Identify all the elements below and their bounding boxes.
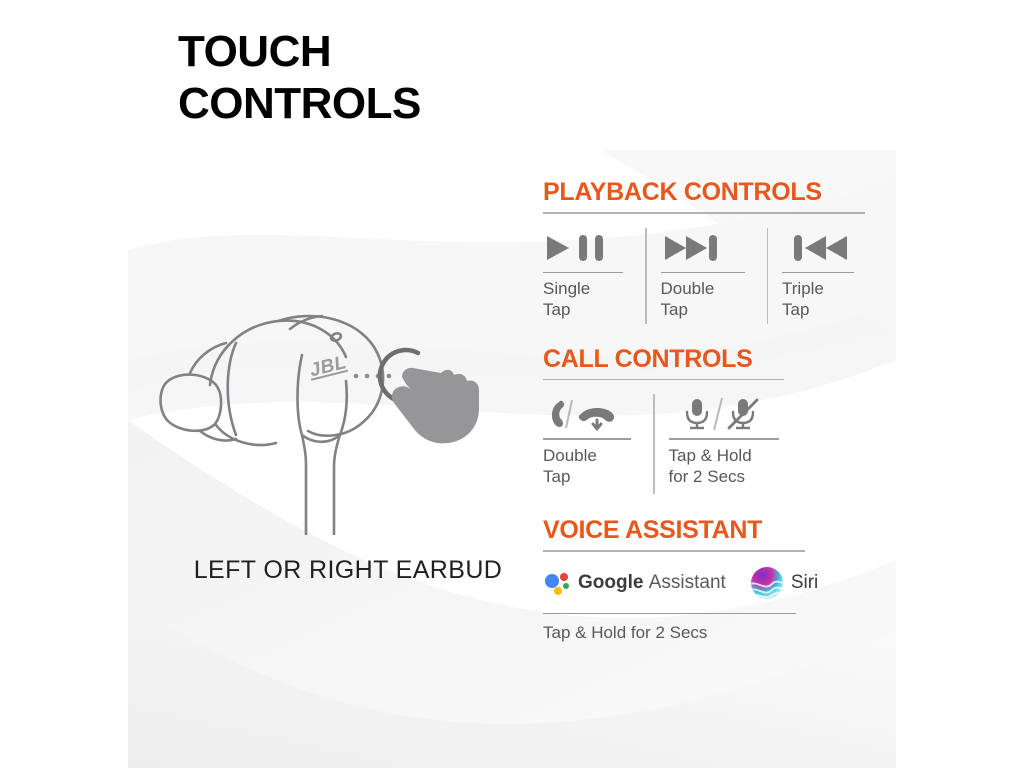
jbl-logo-icon: JBL bbox=[307, 352, 349, 382]
playback-item-triple-tap[interactable]: Triple Tap bbox=[782, 228, 862, 321]
voice-heading: VOICE ASSISTANT bbox=[543, 516, 873, 545]
playback-heading: PLAYBACK CONTROLS bbox=[543, 178, 873, 207]
google-assistant-icon bbox=[543, 569, 571, 597]
svg-text:JBL: JBL bbox=[308, 352, 349, 381]
call-label-double: Double Tap bbox=[543, 445, 639, 487]
earbud-caption: LEFT OR RIGHT EARBUD bbox=[178, 556, 518, 585]
playback-heading-rule bbox=[543, 212, 865, 214]
play-pause-icon bbox=[543, 228, 631, 268]
answer-end-call-icon bbox=[543, 394, 639, 434]
assistant-google-label: Google Assistant bbox=[578, 572, 726, 594]
voice-note: Tap & Hold for 2 Secs bbox=[543, 623, 873, 643]
call-heading-rule bbox=[543, 379, 784, 381]
tap-dots bbox=[354, 374, 392, 379]
page-title-line2: CONTROLS bbox=[178, 78, 421, 130]
controls-column: PLAYBACK CONTROLS Single Tap bbox=[543, 178, 873, 643]
call-heading: CALL CONTROLS bbox=[543, 345, 873, 374]
siri-icon bbox=[750, 566, 784, 600]
playback-label-single: Single Tap bbox=[543, 278, 631, 320]
voice-heading-rule bbox=[543, 550, 805, 552]
label-rule bbox=[661, 272, 745, 274]
previous-track-icon bbox=[782, 228, 862, 268]
voice-note-rule bbox=[543, 613, 796, 615]
label-rule bbox=[669, 438, 779, 440]
label-rule bbox=[543, 272, 623, 274]
mic-mute-icon bbox=[669, 394, 787, 434]
assistant-siri[interactable]: Siri bbox=[750, 566, 818, 600]
playback-label-double: Double Tap bbox=[661, 278, 753, 320]
infographic-canvas: TOUCH CONTROLS bbox=[0, 0, 1024, 768]
playback-item-double-tap[interactable]: Double Tap bbox=[661, 228, 753, 321]
label-rule bbox=[543, 438, 631, 440]
page-title-line1: TOUCH bbox=[178, 27, 331, 76]
call-item-mute[interactable]: Tap & Hold for 2 Secs bbox=[669, 394, 787, 487]
call-label-hold: Tap & Hold for 2 Secs bbox=[669, 445, 787, 487]
next-track-icon bbox=[661, 228, 753, 268]
playback-label-triple: Triple Tap bbox=[782, 278, 862, 320]
section-call: CALL CONTROLS Double T bbox=[543, 345, 873, 495]
page-title: TOUCH CONTROLS bbox=[178, 26, 421, 130]
assistant-siri-label: Siri bbox=[791, 572, 818, 594]
divider bbox=[767, 228, 769, 324]
earbud-drawing: JBL bbox=[150, 285, 500, 535]
assistant-google[interactable]: Google Assistant bbox=[543, 569, 726, 597]
pointing-hand-icon bbox=[392, 368, 479, 444]
section-voice-assistant: VOICE ASSISTANT Google Assistant bbox=[543, 516, 873, 643]
playback-item-single-tap[interactable]: Single Tap bbox=[543, 228, 631, 321]
divider bbox=[645, 228, 647, 324]
earbud-illustration: JBL bbox=[150, 285, 500, 540]
divider bbox=[653, 394, 655, 494]
section-playback: PLAYBACK CONTROLS Single Tap bbox=[543, 178, 873, 324]
label-rule bbox=[782, 272, 854, 274]
call-item-answer-end[interactable]: Double Tap bbox=[543, 394, 639, 487]
